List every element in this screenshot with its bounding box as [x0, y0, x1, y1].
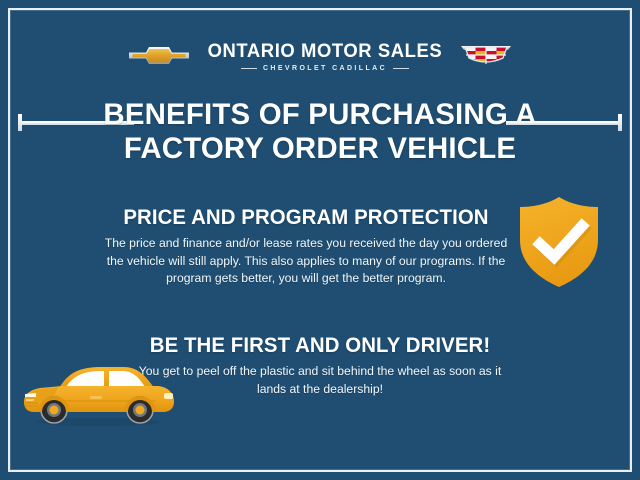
car-icon [18, 356, 178, 428]
dealer-wordmark: ONTARIO MOTOR SALES CHEVROLET CADILLAC [204, 42, 446, 72]
shield-check-icon [513, 194, 605, 290]
title-rule-right-icon [506, 120, 622, 125]
page-title: BENEFITS OF PURCHASING A FACTORY ORDER V… [0, 98, 640, 165]
dealer-brand-bar: ONTARIO MOTOR SALES CHEVROLET CADILLAC [0, 36, 640, 78]
benefit-heading: PRICE AND PROGRAM PROTECTION [102, 206, 509, 229]
benefit-heading: BE THE FIRST AND ONLY DRIVER! [136, 334, 505, 357]
chevrolet-bowtie-icon [128, 42, 190, 73]
title-line-1: BENEFITS OF PURCHASING A [6, 98, 633, 132]
benefit-body: The price and finance and/or lease rates… [96, 235, 516, 288]
dealer-subtitle: CHEVROLET CADILLAC [263, 65, 387, 72]
title-line-1-row: BENEFITS OF PURCHASING A [0, 98, 640, 132]
cadillac-crest-icon [460, 41, 512, 74]
benefit-item-price-protection: PRICE AND PROGRAM PROTECTION The price a… [96, 206, 516, 288]
dealer-subtitle-row: CHEVROLET CADILLAC [241, 65, 409, 72]
benefit-body: You get to peel off the plastic and sit … [130, 363, 510, 398]
subtitle-dash-right [393, 68, 409, 69]
subtitle-dash-left [241, 68, 257, 69]
title-rule-right-bar [506, 121, 618, 125]
promotional-poster: ONTARIO MOTOR SALES CHEVROLET CADILLAC [0, 0, 640, 480]
title-line-2: FACTORY ORDER VEHICLE [6, 132, 633, 166]
dealer-name: ONTARIO MOTOR SALES [208, 42, 443, 61]
title-rule-right-cap [618, 114, 622, 131]
benefit-item-first-driver: BE THE FIRST AND ONLY DRIVER! You get to… [130, 334, 510, 398]
